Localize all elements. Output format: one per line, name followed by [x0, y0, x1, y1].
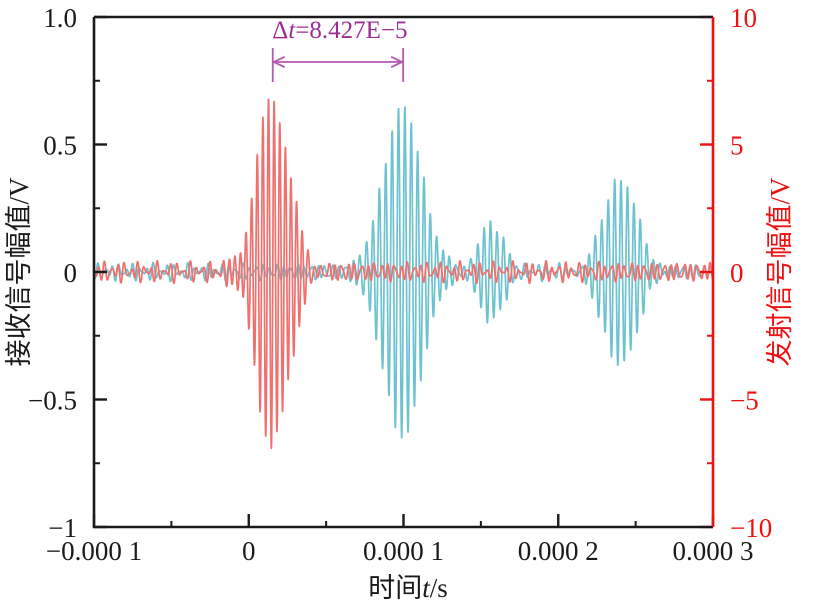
- svg-text:发射信号幅值/V: 发射信号幅值/V: [765, 177, 795, 367]
- y-right-tick-label: 5: [730, 131, 744, 161]
- svg-text:接收信号幅值/V: 接收信号幅值/V: [4, 177, 34, 367]
- y-right-tick-label: −10: [730, 513, 772, 543]
- delta-t-annotation: Δt=8.427E−5: [272, 17, 407, 82]
- y-axis-left-ticks: [94, 17, 107, 527]
- chart-canvas: −0.000 100.000 10.000 20.000 3 1.00.50−0…: [0, 0, 815, 610]
- y-axis-right-ticks: [700, 17, 713, 527]
- y-axis-left-tick-labels: 1.00.50−0.5−1: [28, 3, 77, 543]
- x-tick-label: 0.000 2: [518, 536, 599, 566]
- y-right-tick-label: 10: [730, 3, 757, 33]
- y-left-tick-label: 1.0: [43, 3, 77, 33]
- svg-text:时间t/s: 时间t/s: [368, 573, 448, 603]
- y-left-tick-label: 0: [64, 258, 78, 288]
- svg-text:Δt=8.427E−5: Δt=8.427E−5: [272, 17, 407, 44]
- x-tick-label: 0: [242, 536, 256, 566]
- x-axis-title: 时间t/s: [368, 573, 448, 603]
- y-left-tick-label: 0.5: [43, 131, 77, 161]
- y-right-tick-label: −5: [730, 386, 759, 416]
- y-axis-left-title: 接收信号幅值/V: [4, 177, 34, 367]
- x-tick-label: 0.000 1: [363, 536, 444, 566]
- chart-figure: −0.000 100.000 10.000 20.000 3 1.00.50−0…: [0, 0, 815, 610]
- y-left-tick-label: −1: [48, 513, 77, 543]
- plot-traces: [94, 99, 713, 448]
- y-axis-right-title: 发射信号幅值/V: [765, 177, 795, 367]
- x-axis-tick-labels: −0.000 100.000 10.000 20.000 3: [46, 536, 754, 566]
- y-left-tick-label: −0.5: [28, 386, 77, 416]
- x-axis-ticks: [94, 514, 713, 527]
- y-right-tick-label: 0: [730, 258, 744, 288]
